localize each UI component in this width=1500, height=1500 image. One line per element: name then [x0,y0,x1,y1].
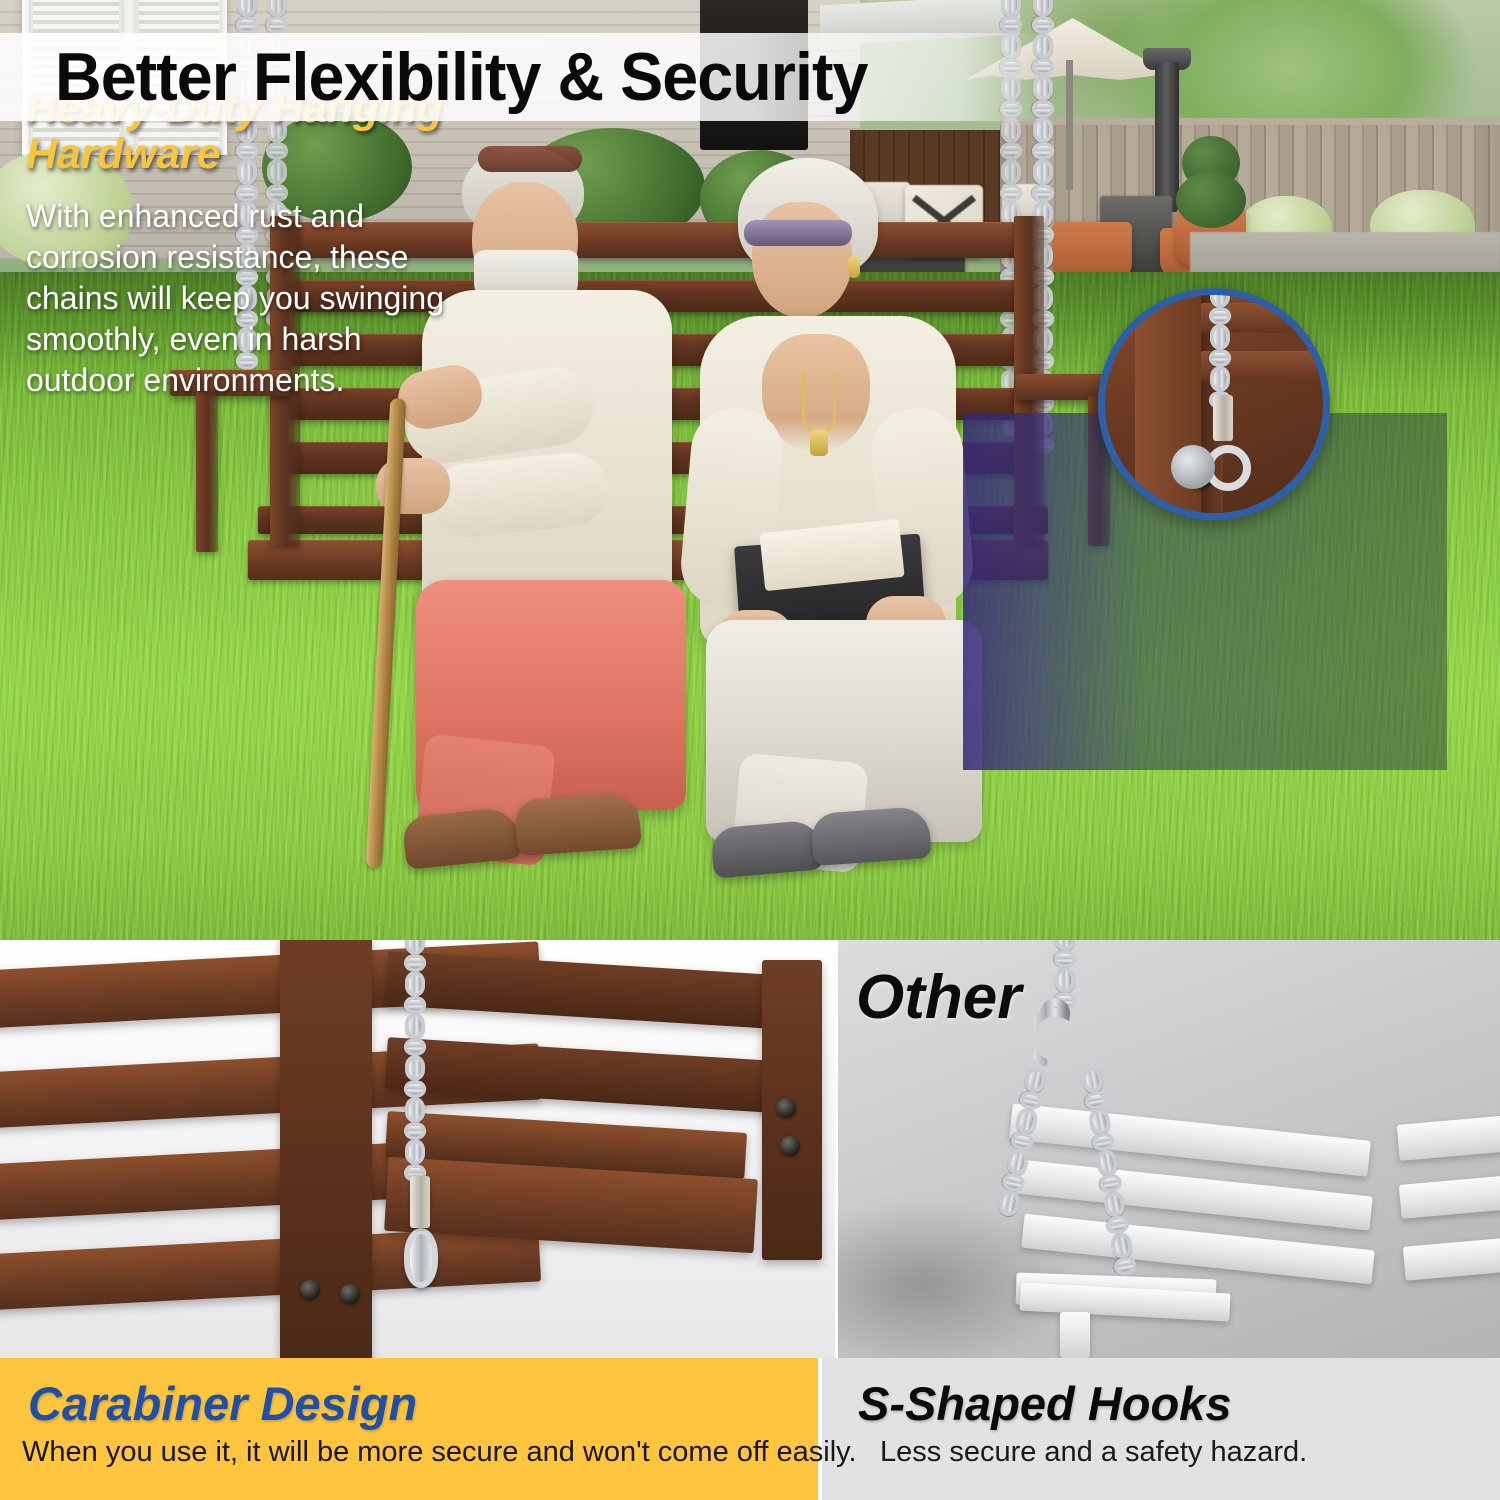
woman-earring [848,256,860,278]
man-shoe-right [514,792,642,857]
woman-necklace [802,372,836,434]
woman-shoe-left [710,819,824,878]
bl-screw-4 [780,1136,800,1156]
s-hook-icon [1034,996,1076,1080]
br-bench-leg [1060,1312,1090,1358]
carabiner-caption-title: Carabiner Design [28,1376,417,1431]
bl-screw-lock-sleeve [410,1176,430,1228]
bl-backrest-slat-4 [0,1225,541,1310]
umbrella-pole [1066,60,1073,190]
callout-mounting-plate [1171,445,1215,489]
hardware-zoom-callout [1098,288,1330,520]
carabiner-caption-body: When you use it, it will be more secure … [22,1436,857,1469]
callout-lock-barrel [1213,395,1233,441]
page-title: Better Flexibility & Security [55,33,868,121]
woman-pendant [810,430,828,456]
woman-shoe-right [810,806,931,866]
bl-screw-2 [340,1284,360,1304]
other-badge: Other [856,962,1021,1033]
bl-screw-1 [300,1280,320,1300]
bl-hanging-chain [404,940,426,1186]
infographic-page: Heavy-Duty Hanging Hardware With enhance… [0,0,1500,1500]
carabiner-ring [404,1228,438,1288]
shook-caption-title: S-Shaped Hooks [858,1376,1231,1431]
armrest-support-left [196,392,218,552]
man-glasses-on-head [478,146,582,172]
hardware-body-text: With enhanced rust and corrosion resista… [26,196,478,401]
s-hook-comparison-photo: Other [838,940,1500,1358]
carabiner-detail-photo [0,940,835,1358]
bl-backrest-slat-right-1 [385,951,808,1031]
person-seated-woman [680,158,1010,858]
patio-heater [1155,62,1179,212]
bl-screw-3 [776,1098,796,1118]
shook-caption-body: Less secure and a safety hazard. [880,1436,1307,1469]
hero-photo-section: Heavy-Duty Hanging Hardware With enhance… [0,0,1500,940]
woman-sunglasses [744,220,852,246]
topiary-ball-bottom [1176,172,1246,228]
